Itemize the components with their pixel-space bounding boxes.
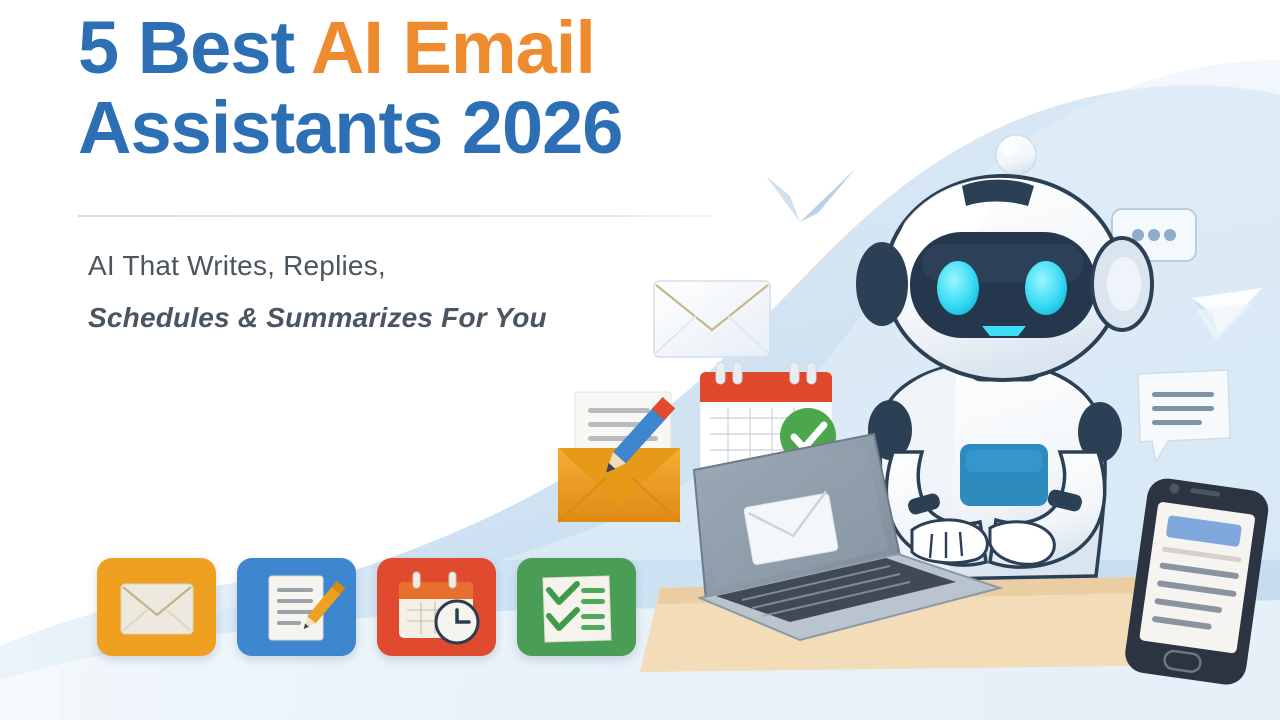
title-part-plain: 5 Best xyxy=(78,6,311,89)
banner-canvas: 5 Best AI Email Assistants 2026 AI That … xyxy=(0,0,1280,720)
headline-block: 5 Best AI Email Assistants 2026 xyxy=(78,8,738,168)
feature-tile-compose[interactable] xyxy=(237,558,356,656)
checklist-icon xyxy=(517,558,636,656)
feature-tile-email[interactable] xyxy=(97,558,216,656)
title-part-accent: AI Email xyxy=(311,6,595,89)
feature-tile-schedule[interactable] xyxy=(377,558,496,656)
subtitle-block: AI That Writes, Replies, Schedules & Sum… xyxy=(88,240,728,344)
message-bubble xyxy=(1138,370,1230,462)
smartphone xyxy=(1123,476,1271,687)
title-line-2: Assistants 2026 xyxy=(78,88,738,168)
open-envelope-with-letter xyxy=(558,392,680,522)
envelope-icon xyxy=(97,558,216,656)
subtitle-line-1: AI That Writes, Replies, xyxy=(88,240,728,292)
feature-tile-row xyxy=(97,558,636,656)
title-line-1: 5 Best AI Email xyxy=(78,8,738,88)
document-pencil-icon xyxy=(237,558,356,656)
ai-robot xyxy=(856,135,1152,580)
title-divider xyxy=(78,215,712,217)
calendar-clock-icon xyxy=(377,558,496,656)
subtitle-line-2: Schedules & Summarizes For You xyxy=(88,292,728,344)
feature-tile-checklist[interactable] xyxy=(517,558,636,656)
paper-plane-top xyxy=(766,168,856,222)
